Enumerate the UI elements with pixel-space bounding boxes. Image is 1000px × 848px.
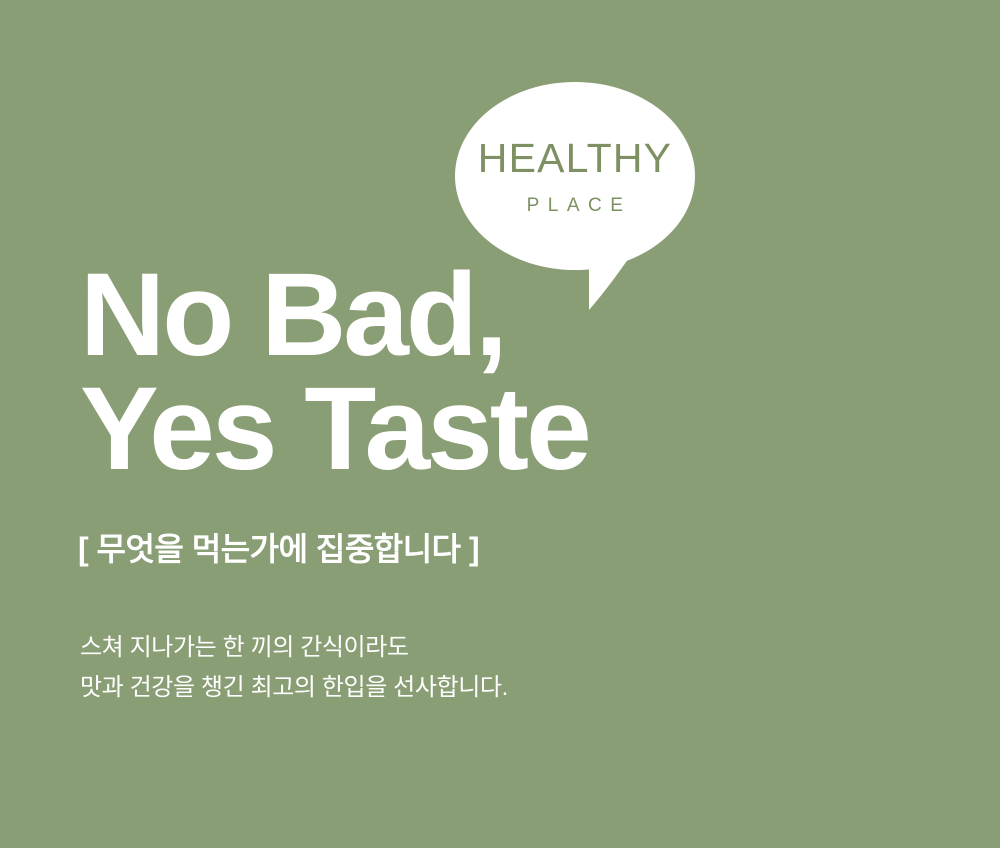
logo-primary-text: HEALTHY — [478, 138, 672, 179]
headline-line-2: Yes Taste — [80, 372, 589, 486]
body-copy: 스쳐 지나가는 한 끼의 간식이라도 맛과 건강을 챙긴 최고의 한입을 선사합… — [80, 628, 508, 708]
headline-line-1: No Bad, — [80, 258, 589, 372]
logo-secondary-text: PLACE — [527, 196, 632, 215]
logo-wordmark: HEALTHY PLACE — [455, 82, 695, 270]
body-line-2: 맛과 건강을 챙긴 최고의 한입을 선사합니다. — [80, 668, 508, 708]
subtitle-bracket-line: [ 무엇을 먹는가에 집중합니다 ] — [78, 530, 479, 568]
brand-logo: HEALTHY PLACE — [455, 82, 695, 270]
promo-banner: HEALTHY PLACE No Bad, Yes Taste [ 무엇을 먹는… — [0, 0, 1000, 848]
body-line-1: 스쳐 지나가는 한 끼의 간식이라도 — [80, 628, 508, 668]
headline: No Bad, Yes Taste — [80, 258, 589, 486]
